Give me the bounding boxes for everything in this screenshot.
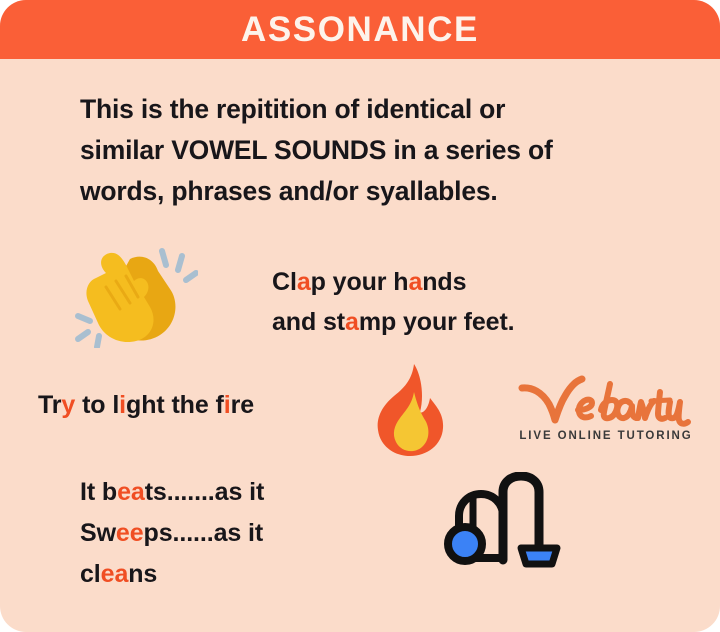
clapping-hands-icon <box>68 243 198 348</box>
example-sweep-line-3: cleans <box>80 554 264 595</box>
example-clap-line-1: Clap your hands <box>272 262 515 302</box>
page-title: ASSONANCE <box>241 12 479 47</box>
vedantu-tagline: LIVE ONLINE TUTORING <box>518 430 694 442</box>
fire-icon <box>370 362 450 457</box>
vowel-highlight: ea <box>101 560 129 588</box>
header-bar: ASSONANCE <box>0 0 720 59</box>
definition-line-3: words, phrases and/or syallables. <box>80 171 610 212</box>
definition-text: This is the repitition of identical or s… <box>80 89 610 212</box>
vedantu-wordmark-icon <box>518 374 694 428</box>
definition-line-1: This is the repitition of identical or <box>80 89 610 130</box>
assonance-infographic-card: ASSONANCE This is the repitition of iden… <box>0 0 720 632</box>
vowel-highlight: i <box>224 391 231 419</box>
example-sweep-text: It beats.......as it Sweeps......as it c… <box>80 472 264 595</box>
example-fire-text: Try to light the fire <box>38 388 254 422</box>
example-sweep-line-1: It beats.......as it <box>80 472 264 513</box>
vowel-highlight: a <box>408 268 422 296</box>
example-clap-text: Clap your hands and stamp your feet. <box>272 262 515 342</box>
vacuum-cleaner-icon <box>443 472 569 572</box>
example-sweep-line-2: Sweeps......as it <box>80 513 264 554</box>
example-clap-line-2: and stamp your feet. <box>272 302 515 342</box>
vedantu-logo: LIVE ONLINE TUTORING <box>518 374 694 450</box>
vowel-highlight: ee <box>116 519 144 547</box>
definition-line-2: similar VOWEL SOUNDS in a series of <box>80 130 610 171</box>
vowel-highlight: a <box>345 308 359 336</box>
vowel-highlight: a <box>297 268 311 296</box>
vowel-highlight: y <box>61 391 75 419</box>
vowel-highlight: ea <box>117 478 145 506</box>
vowel-highlight: i <box>119 391 126 419</box>
